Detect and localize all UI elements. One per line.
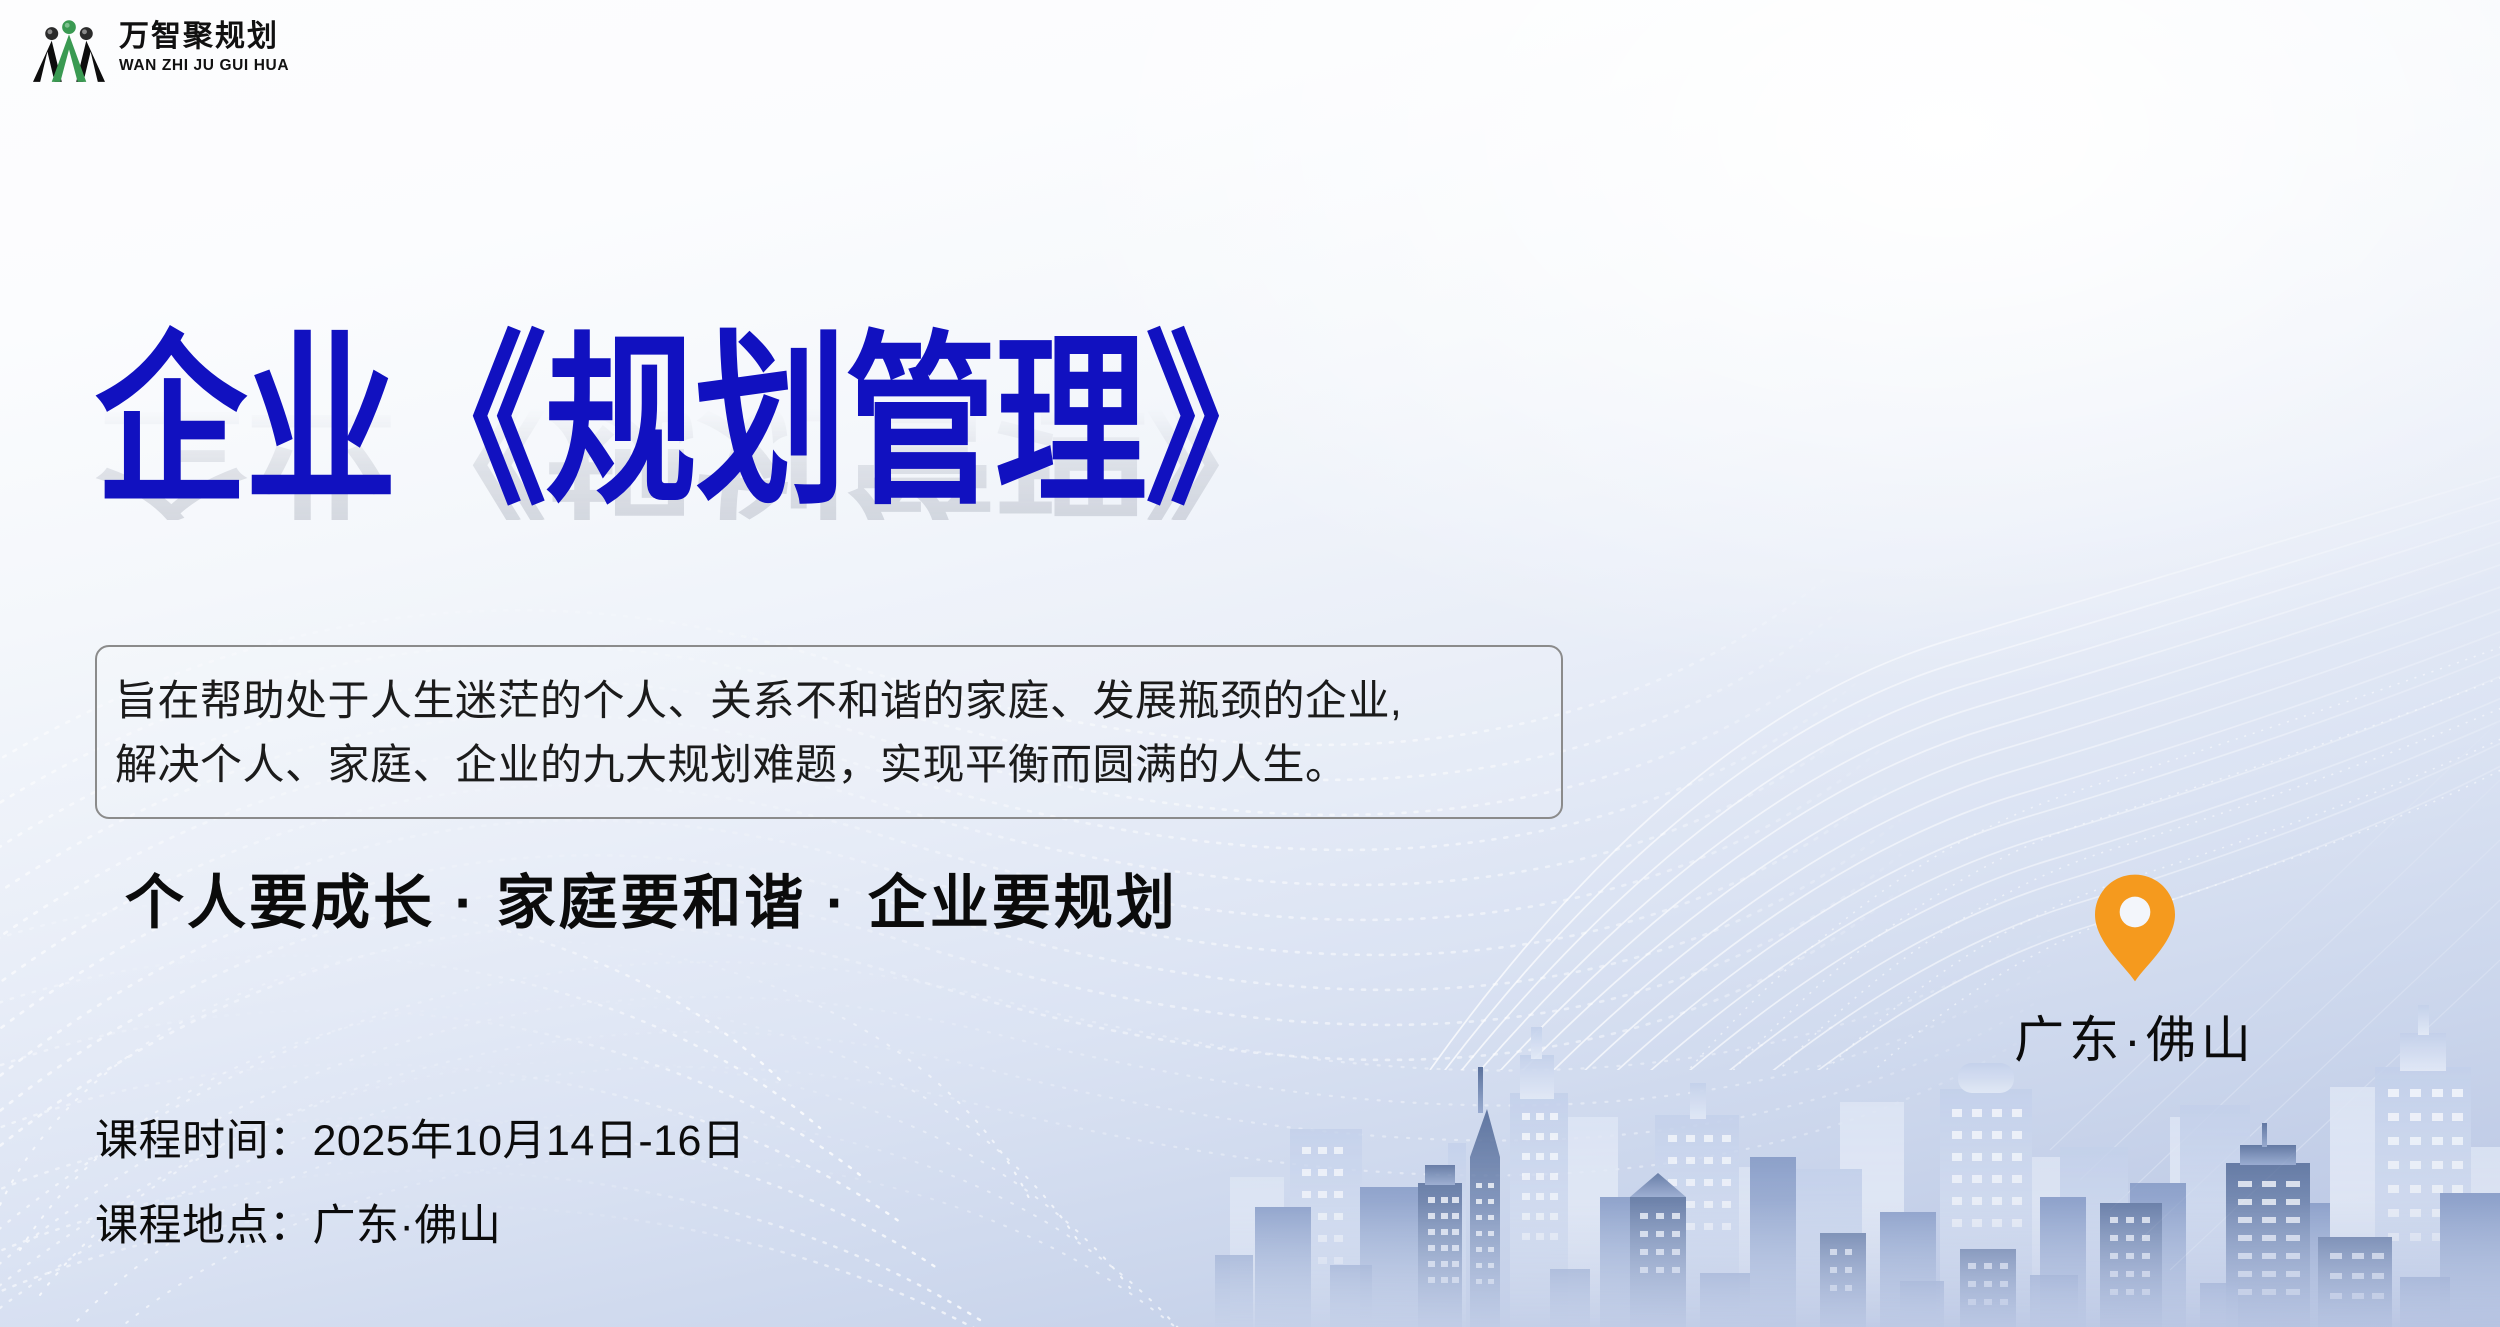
brand-logo[interactable]: 万智聚规划 WAN ZHI JU GUI HUA [33, 12, 289, 84]
map-pin-icon [2092, 872, 2178, 984]
description-line-1: 旨在帮助处于人生迷茫的个人、关系不和谐的家庭、发展瓶颈的企业, [115, 669, 1543, 733]
slogan-text: 个人要成长 · 家庭要和谐 · 企业要规划 [125, 855, 1178, 940]
main-title-block: 企业《规划管理》 [95, 330, 1695, 482]
brand-name-cn: 万智聚规划 [119, 22, 289, 52]
three-people-m-logo-icon [33, 12, 105, 84]
brand-name-pinyin: WAN ZHI JU GUI HUA [119, 58, 289, 74]
location-label: 广东·佛山 [1975, 1000, 2295, 1072]
description-line-2: 解决个人、家庭、企业的九大规划难题，实现平衡而圆满的人生。 [115, 733, 1543, 797]
location-badge: 广东·佛山 [1975, 872, 2295, 1072]
course-info: 课程时间：2025年10月14日-16日 课程地点：广东·佛山 [95, 1120, 745, 1248]
course-place: 课程地点：广东·佛山 [95, 1205, 745, 1248]
page-title: 企业《规划管理》 [95, 330, 1695, 515]
description-box: 旨在帮助处于人生迷茫的个人、关系不和谐的家庭、发展瓶颈的企业, 解决个人、家庭、… [95, 645, 1563, 819]
poster-canvas: 万智聚规划 WAN ZHI JU GUI HUA 企业《规划管理》 企业《规划管… [0, 0, 2500, 1327]
course-time: 课程时间：2025年10月14日-16日 [95, 1120, 745, 1163]
